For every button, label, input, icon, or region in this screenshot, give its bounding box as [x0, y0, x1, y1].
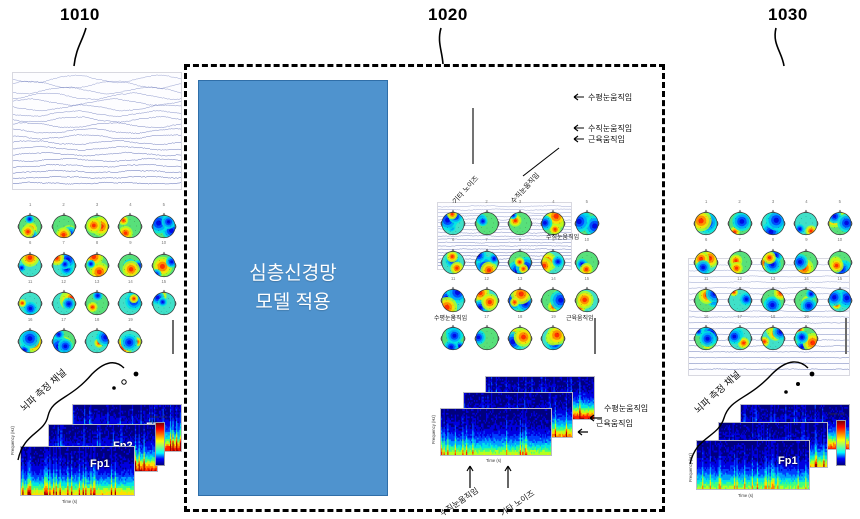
topomap-cell[interactable]: 14: [790, 277, 822, 314]
topomap-cell[interactable]: 13: [81, 280, 113, 317]
spectrogram-channel-label-right-fp1: Fp1: [778, 455, 798, 467]
colorbar-label-left: Power (dB): [150, 415, 167, 419]
topomap-index: 16: [704, 315, 709, 319]
topomap-index: 9: [805, 238, 807, 242]
topomap-index: 12: [737, 277, 742, 281]
topomap-cell[interactable]: 2: [723, 200, 755, 237]
annotation-muscle-movement-mid: 근육움직임: [588, 134, 625, 145]
topomap-cell[interactable]: 11: [14, 280, 46, 317]
topomap-cell[interactable]: 6: [14, 241, 46, 278]
eeg-trace-panel-raw[interactable]: [12, 72, 182, 190]
topomap-cell[interactable]: 19: [114, 318, 146, 355]
topomap-index: 10: [837, 238, 842, 242]
topomap-index: 2: [738, 200, 740, 204]
annotation-vertical-eye-movement-mid: 수직눈움직임: [588, 123, 632, 134]
topomap-index: 7: [738, 238, 740, 242]
topomap-index: 5: [586, 200, 588, 204]
topomap-index: 14: [551, 277, 556, 281]
topomap-cell[interactable]: 7: [723, 238, 755, 275]
topomap-index: 14: [804, 277, 809, 281]
topomap-index: 6: [452, 238, 454, 242]
reference-numeral-1030: 1030: [768, 5, 808, 25]
topomap-cell[interactable]: 9: [114, 241, 146, 278]
topomap-cell[interactable]: 2: [470, 200, 502, 237]
colorbar-right: [836, 420, 846, 466]
topomap-grid-components[interactable]: 12345678910111213141516171819: [437, 200, 603, 352]
topomap-cell[interactable]: 6: [690, 238, 722, 275]
spectrogram-channel-label-fp1: Fp1: [90, 458, 110, 470]
annotation-topomap-muscle: 근육움직임: [566, 313, 594, 322]
topomap-cell[interactable]: 14: [114, 280, 146, 317]
topomap-cell[interactable]: 5: [148, 203, 180, 240]
topomap-cell[interactable]: 10: [824, 238, 856, 275]
topomap-index: 11: [28, 280, 32, 284]
topomap-index: 7: [485, 238, 487, 242]
topomap-cell[interactable]: 17: [723, 315, 755, 352]
topomap-cell[interactable]: 2: [47, 203, 79, 240]
topomap-index: 7: [62, 241, 64, 245]
topomap-index: 15: [161, 280, 166, 284]
topomap-cell[interactable]: 5: [824, 200, 856, 237]
topomap-index: 15: [837, 277, 842, 281]
topomap-cell[interactable]: 15: [571, 277, 603, 314]
topomap-cell[interactable]: 12: [470, 277, 502, 314]
topomap-cell[interactable]: 15: [148, 280, 180, 317]
topomap-cell[interactable]: 17: [470, 315, 502, 352]
topomap-cell[interactable]: 17: [47, 318, 79, 355]
axis-y-title-left: Frequency (Hz): [10, 426, 15, 455]
topomap-cell[interactable]: 19: [537, 315, 569, 352]
annotation-topomap-horizontal-eye: 수평눈움직임: [434, 313, 467, 322]
topomap-cell[interactable]: 4: [114, 203, 146, 240]
topomap-index: 8: [519, 238, 521, 242]
axis-x-title-right: Time (s): [738, 493, 753, 498]
topomap-index: 4: [552, 200, 554, 204]
topomap-cell[interactable]: 12: [47, 280, 79, 317]
colorbar-left: [155, 422, 165, 466]
reference-numeral-1020: 1020: [428, 5, 468, 25]
annotation-spec-muscle: 근육움직임: [596, 418, 633, 429]
axis-x-title-mid: Time (s): [486, 458, 501, 463]
topomap-index: 17: [61, 318, 66, 322]
topomap-cell[interactable]: 14: [537, 277, 569, 314]
topomap-cell[interactable]: 4: [790, 200, 822, 237]
annotation-horizontal-eye-movement-mid: 수평눈움직임: [588, 92, 632, 103]
topomap-cell[interactable]: 18: [81, 318, 113, 355]
topomap-index: 5: [839, 200, 841, 204]
topomap-cell[interactable]: 1: [437, 200, 469, 237]
topomap-index: 9: [129, 241, 131, 245]
topomap-cell[interactable]: 7: [470, 238, 502, 275]
topomap-index: 2: [62, 203, 64, 207]
reference-numeral-1010: 1010: [60, 5, 100, 25]
topomap-index: 5: [163, 203, 165, 207]
topomap-index: 13: [771, 277, 776, 281]
topomap-cell[interactable]: 15: [824, 277, 856, 314]
annotation-topomap-vertical-eye: 수직눈움직임: [546, 232, 579, 241]
topomap-index: 11: [451, 277, 455, 281]
topomap-index: 19: [804, 315, 809, 319]
topomap-index: 16: [28, 318, 33, 322]
topomap-cell[interactable]: 3: [81, 203, 113, 240]
topomap-cell[interactable]: 8: [757, 238, 789, 275]
topomap-index: 12: [484, 277, 489, 281]
topomap-cell[interactable]: 9: [537, 238, 569, 275]
topomap-index: 4: [805, 200, 807, 204]
topomap-cell[interactable]: 16: [690, 315, 722, 352]
colorbar-label-right: Power (dB): [828, 412, 845, 416]
topomap-index: 18: [95, 318, 100, 322]
topomap-index: 18: [771, 315, 776, 319]
topomap-index: 14: [128, 280, 133, 284]
topomap-cell[interactable]: 10: [148, 241, 180, 278]
topomap-index: 3: [519, 200, 521, 204]
topomap-index: 2: [485, 200, 487, 204]
topomap-index: 4: [129, 203, 131, 207]
topomap-cell[interactable]: 12: [723, 277, 755, 314]
topomap-index: 1: [452, 200, 454, 204]
annotation-spec-horizontal-eye: 수평눈움직임: [604, 403, 648, 414]
topomap-cell[interactable]: 18: [504, 315, 536, 352]
axis-x-title-left: Time (s): [62, 499, 77, 504]
spectrogram-card-fp1[interactable]: [20, 446, 135, 496]
topomap-index: 8: [96, 241, 98, 245]
topomap-cell[interactable]: 8: [504, 238, 536, 275]
topomap-index: 6: [29, 241, 31, 245]
spectrogram-fp1-svg: [21, 447, 134, 495]
topomap-index: 19: [551, 315, 556, 319]
topomap-index: 10: [584, 238, 589, 242]
topomap-scalebar-left: [172, 320, 174, 354]
topomap-index: 3: [772, 200, 774, 204]
topomap-cell[interactable]: 11: [690, 277, 722, 314]
topomap-grid-denoised[interactable]: 12345678910111213141516171819: [690, 200, 856, 352]
dnn-model-label: 심층신경망 모델 적용: [249, 259, 336, 318]
topomap-index: 1: [705, 200, 707, 204]
topomap-index: 1: [29, 203, 31, 207]
topomap-cell[interactable]: 11: [437, 277, 469, 314]
topomap-scalebar-right: [845, 318, 847, 354]
topomap-index: 18: [518, 315, 523, 319]
topomap-index: 3: [96, 203, 98, 207]
dnn-model-block[interactable]: 심층신경망 모델 적용: [198, 80, 388, 496]
topomap-index: 10: [161, 241, 166, 245]
topomap-cell[interactable]: 13: [757, 277, 789, 314]
topomap-index: 17: [484, 315, 489, 319]
topomap-grid-raw[interactable]: 12345678910111213141516171819: [14, 203, 180, 355]
topomap-index: 11: [704, 277, 708, 281]
topomap-index: 12: [61, 280, 66, 284]
topomap-index: 6: [705, 238, 707, 242]
topomap-index: 17: [737, 315, 742, 319]
annotation-eeg-channel-left: 뇌파 측정 채널: [17, 365, 69, 414]
dnn-label-line1: 심층신경망: [249, 263, 336, 284]
topomap-index: 13: [95, 280, 100, 284]
topomap-cell[interactable]: 1: [690, 200, 722, 237]
dnn-label-line2: 모델 적용: [255, 292, 330, 313]
axis-y-title-right: Frequency (Hz): [688, 453, 693, 482]
topomap-cell[interactable]: 9: [790, 238, 822, 275]
spectrogram-mid-1-svg: [441, 409, 551, 455]
topomap-cell[interactable]: 13: [504, 277, 536, 314]
topomap-cell[interactable]: 19: [790, 315, 822, 352]
topomap-index: 13: [518, 277, 523, 281]
topomap-cell[interactable]: 1: [14, 203, 46, 240]
topomap-cell[interactable]: 10: [571, 238, 603, 275]
topomap-scalebar-mid: [594, 318, 596, 354]
topomap-index: 15: [584, 277, 589, 281]
topomap-index: 19: [128, 318, 133, 322]
topomap-cell[interactable]: 16: [14, 318, 46, 355]
eeg-traces-raw-svg: [13, 73, 181, 189]
topomap-cell[interactable]: 3: [757, 200, 789, 237]
topomap-cell[interactable]: 3: [504, 200, 536, 237]
spectrogram-card-mid-1[interactable]: [440, 408, 552, 456]
axis-y-title-mid: Frequency (Hz): [431, 415, 436, 444]
topomap-cell[interactable]: 6: [437, 238, 469, 275]
topomap-cell[interactable]: 7: [47, 241, 79, 278]
topomap-cell[interactable]: 18: [757, 315, 789, 352]
topomap-cell[interactable]: 8: [81, 241, 113, 278]
topomap-index: 8: [772, 238, 774, 242]
